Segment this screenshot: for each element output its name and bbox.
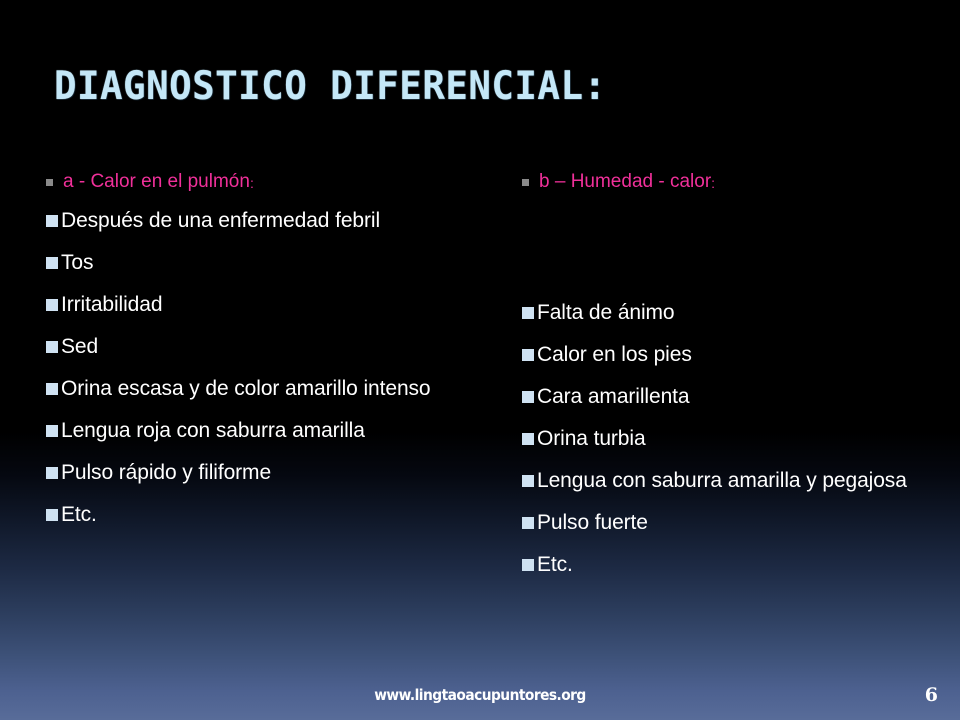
square-bullet-icon (522, 517, 534, 529)
list-item-label: Tos (61, 248, 93, 277)
column-right-spacer (522, 206, 942, 298)
column-right-heading: b – Humedad - calor: (522, 168, 942, 206)
slide-canvas: DIAGNOSTICO DIFERENCIAL: a - Calor en el… (0, 0, 960, 720)
list-item: Etc. (522, 550, 942, 579)
list-item-label: Lengua roja con saburra amarilla (61, 416, 365, 445)
list-item-label: Cara amarillenta (537, 382, 689, 411)
square-bullet-icon (46, 341, 58, 353)
list-item-label: Pulso fuerte (537, 508, 648, 537)
list-item-label: Pulso rápido y filiforme (61, 458, 271, 487)
list-item-label: Orina turbia (537, 424, 646, 453)
list-item-label: Calor en los pies (537, 340, 692, 369)
column-left-list: Después de una enfermedad febril Tos Irr… (46, 206, 476, 529)
square-bullet-icon (522, 433, 534, 445)
square-bullet-icon (46, 257, 58, 269)
list-item: Orina turbia (522, 424, 942, 453)
list-item-label: Etc. (61, 500, 97, 529)
list-item: Orina escasa y de color amarillo intenso (46, 374, 476, 403)
content-column-right: b – Humedad - calor: Falta de ánimo Calo… (522, 168, 942, 592)
column-right-heading-label: b – Humedad - calor (539, 171, 711, 192)
page-number: 6 (925, 684, 938, 706)
square-bullet-icon (522, 179, 529, 186)
square-bullet-icon (46, 509, 58, 521)
list-item: Después de una enfermedad febril (46, 206, 476, 235)
square-bullet-icon (46, 383, 58, 395)
square-bullet-icon (522, 559, 534, 571)
list-item: Cara amarillenta (522, 382, 942, 411)
list-item-label: Etc. (537, 550, 573, 579)
list-item: Etc. (46, 500, 476, 529)
column-left-heading-colon: : (250, 175, 254, 191)
list-item-label: Sed (61, 332, 98, 361)
list-item: Calor en los pies (522, 340, 942, 369)
list-item-label: Falta de ánimo (537, 298, 675, 327)
column-left-heading-label: a - Calor en el pulmón (63, 171, 250, 192)
square-bullet-icon (522, 349, 534, 361)
footer-website-url: www.lingtaoacupuntores.org (38, 686, 921, 704)
list-item: Lengua con saburra amarilla y pegajosa (522, 466, 942, 495)
list-item: Falta de ánimo (522, 298, 942, 327)
square-bullet-icon (46, 179, 53, 186)
square-bullet-icon (46, 467, 58, 479)
content-column-left: a - Calor en el pulmón: Después de una e… (46, 168, 476, 542)
column-right-heading-colon: : (711, 175, 715, 191)
square-bullet-icon (46, 299, 58, 311)
list-item: Sed (46, 332, 476, 361)
square-bullet-icon (46, 215, 58, 227)
square-bullet-icon (522, 307, 534, 319)
square-bullet-icon (46, 425, 58, 437)
column-right-list: Falta de ánimo Calor en los pies Cara am… (522, 298, 942, 579)
list-item-label: Orina escasa y de color amarillo intenso (61, 374, 431, 403)
list-item: Pulso rápido y filiforme (46, 458, 476, 487)
column-left-heading: a - Calor en el pulmón: (46, 168, 476, 206)
page-title: DIAGNOSTICO DIFERENCIAL: (54, 64, 860, 109)
list-item: Tos (46, 248, 476, 277)
list-item: Lengua roja con saburra amarilla (46, 416, 476, 445)
square-bullet-icon (522, 475, 534, 487)
list-item-label: Lengua con saburra amarilla y pegajosa (537, 466, 907, 495)
list-item: Pulso fuerte (522, 508, 942, 537)
square-bullet-icon (522, 391, 534, 403)
list-item: Irritabilidad (46, 290, 476, 319)
list-item-label: Irritabilidad (61, 290, 162, 319)
list-item-label: Después de una enfermedad febril (61, 206, 380, 235)
